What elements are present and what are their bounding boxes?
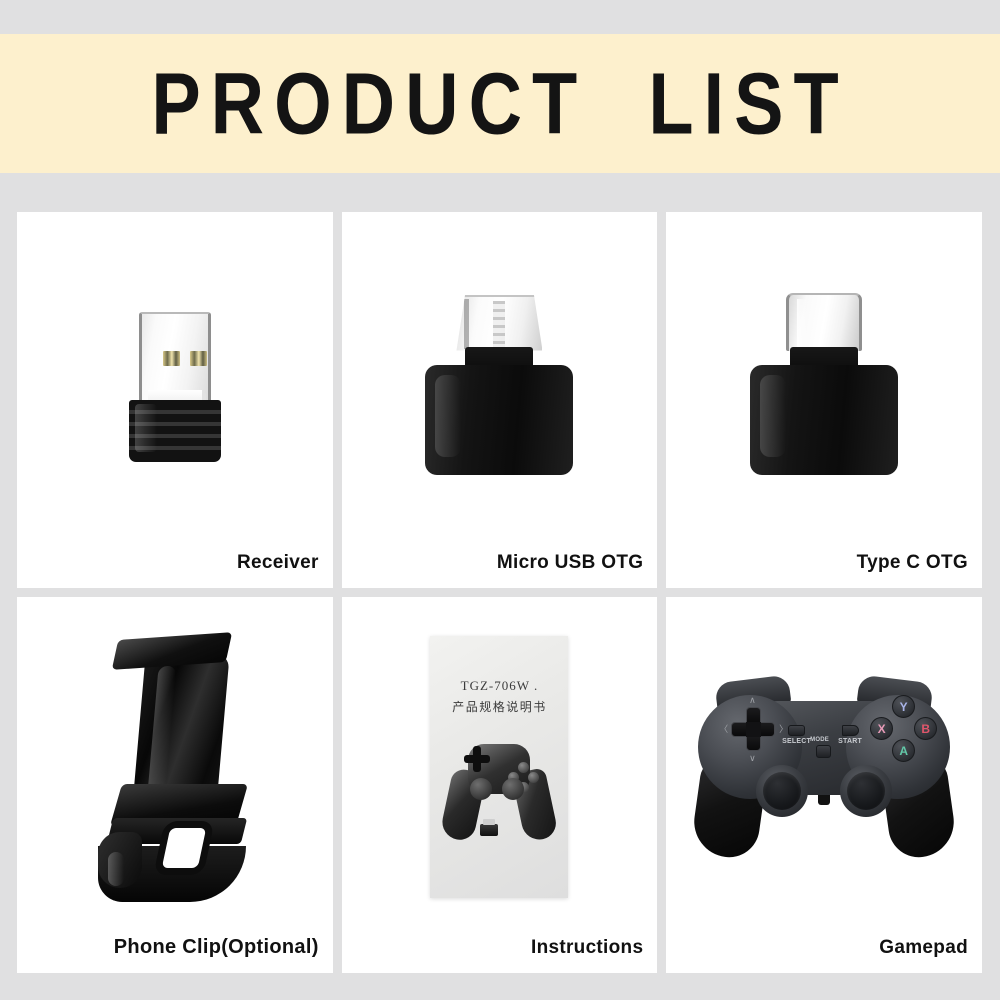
dpad-up-arrow: ∧ — [749, 696, 756, 705]
product-image-stage — [666, 212, 982, 552]
instruction-manual-icon: TGZ-706W . 产品规格说明书 — [430, 636, 568, 898]
dpad-right-arrow: 〉 — [779, 725, 788, 734]
face-button-a-label: A — [899, 744, 908, 758]
face-button-b: B — [914, 717, 937, 740]
start-button — [842, 725, 859, 736]
product-image-stage — [17, 597, 333, 936]
select-button — [788, 725, 805, 736]
product-label-phone-clip: Phone Clip(Optional) — [17, 936, 333, 973]
mode-button — [816, 745, 831, 758]
product-card-receiver[interactable]: Receiver — [17, 212, 333, 588]
face-button-b-label: B — [921, 722, 930, 736]
product-card-type-c-otg[interactable]: Type C OTG — [666, 212, 982, 588]
mode-button-label: MODE — [810, 737, 829, 743]
product-image-stage: ∧ ∨ 〈 〉 Y X B A — [666, 597, 982, 937]
face-button-y: Y — [892, 695, 915, 718]
start-button-label: START — [838, 738, 862, 745]
manual-model-text: TGZ-706W . — [430, 678, 568, 694]
face-button-a: A — [892, 739, 915, 762]
dpad-left-arrow: 〈 — [719, 725, 728, 734]
product-grid: Receiver Micro USB OTG Type C OTG — [17, 212, 982, 973]
select-button-label: SELECT — [782, 738, 811, 745]
product-card-instructions[interactable]: TGZ-706W . 产品规格说明书 Instructions — [342, 597, 658, 973]
page-title: PRODUCT LIST — [151, 53, 848, 153]
product-card-gamepad[interactable]: ∧ ∨ 〈 〉 Y X B A — [666, 597, 982, 973]
usb-port — [818, 795, 830, 805]
usb-nano-receiver-icon — [129, 312, 221, 462]
product-image-stage: TGZ-706W . 产品规格说明书 — [342, 597, 658, 937]
face-button-cluster: Y X B A — [872, 697, 934, 759]
product-image-stage — [17, 212, 333, 552]
product-card-micro-usb-otg[interactable]: Micro USB OTG — [342, 212, 658, 588]
manual-subtitle-text: 产品规格说明书 — [430, 698, 568, 715]
face-button-x: X — [870, 717, 893, 740]
product-label-gamepad: Gamepad — [666, 937, 982, 973]
header-band: PRODUCT LIST — [0, 34, 1000, 173]
product-card-phone-clip[interactable]: Phone Clip(Optional) — [17, 597, 333, 973]
dpad-icon: ∧ ∨ 〈 〉 — [731, 707, 775, 751]
product-image-stage — [342, 212, 658, 552]
product-label-receiver: Receiver — [17, 552, 333, 588]
product-label-micro-usb-otg: Micro USB OTG — [342, 552, 658, 588]
face-button-y-label: Y — [900, 700, 908, 714]
analog-stick-right — [840, 765, 892, 817]
analog-stick-left — [756, 765, 808, 817]
face-button-x-label: X — [878, 722, 886, 736]
micro-usb-otg-adapter-icon — [425, 290, 573, 475]
phone-clip-holder-icon — [80, 632, 270, 902]
type-c-otg-adapter-icon — [750, 290, 898, 475]
product-label-type-c-otg: Type C OTG — [666, 552, 982, 588]
manual-cover-gamepad-illustration — [444, 732, 554, 852]
wireless-gamepad-icon: ∧ ∨ 〈 〉 Y X B A — [690, 677, 958, 857]
dpad-down-arrow: ∨ — [749, 754, 756, 763]
product-label-instructions: Instructions — [342, 937, 658, 973]
